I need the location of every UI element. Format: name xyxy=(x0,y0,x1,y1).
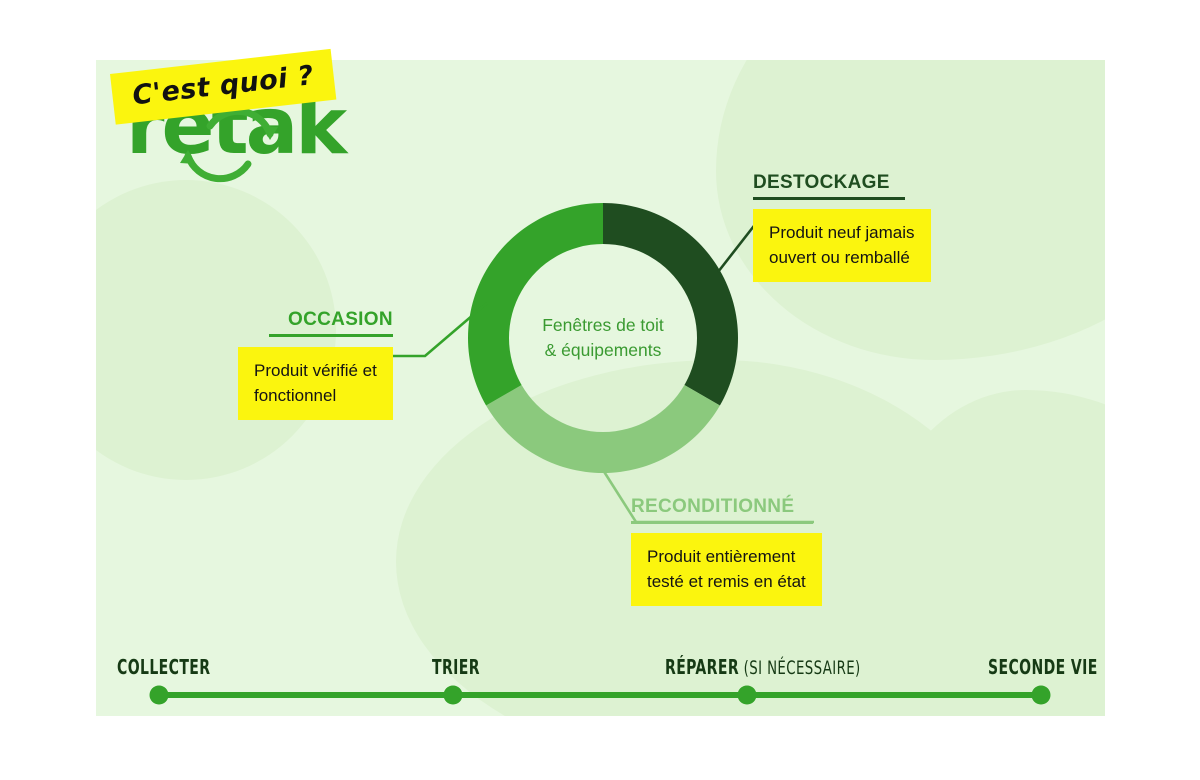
timeline-label-collecter-text: COLLECTER xyxy=(117,655,210,679)
timeline-label-collecter: COLLECTER xyxy=(117,655,210,679)
timeline-label-reparer: RÉPARER (SI NÉCESSAIRE) xyxy=(665,655,861,679)
timeline-dot-4[interactable] xyxy=(1032,686,1051,705)
timeline-label-reparer-text: RÉPARER xyxy=(665,655,739,679)
timeline-label-seconde-vie-text: SECONDE VIE xyxy=(988,655,1098,679)
timeline-label-reparer-note: (SI NÉCESSAIRE) xyxy=(739,657,861,679)
timeline-label-trier-text: TRIER xyxy=(432,655,480,679)
timeline-dot-3[interactable] xyxy=(738,686,757,705)
timeline-dot-2[interactable] xyxy=(444,686,463,705)
process-timeline: COLLECTER TRIER RÉPARER (SI NÉCESSAIRE) … xyxy=(0,0,1200,780)
timeline-label-trier: TRIER xyxy=(432,655,480,679)
infographic-canvas: retak C'est quoi ? Fenêtres de toit & éq… xyxy=(0,0,1200,780)
timeline-dot-1[interactable] xyxy=(150,686,169,705)
timeline-label-seconde-vie: SECONDE VIE xyxy=(988,655,1098,679)
